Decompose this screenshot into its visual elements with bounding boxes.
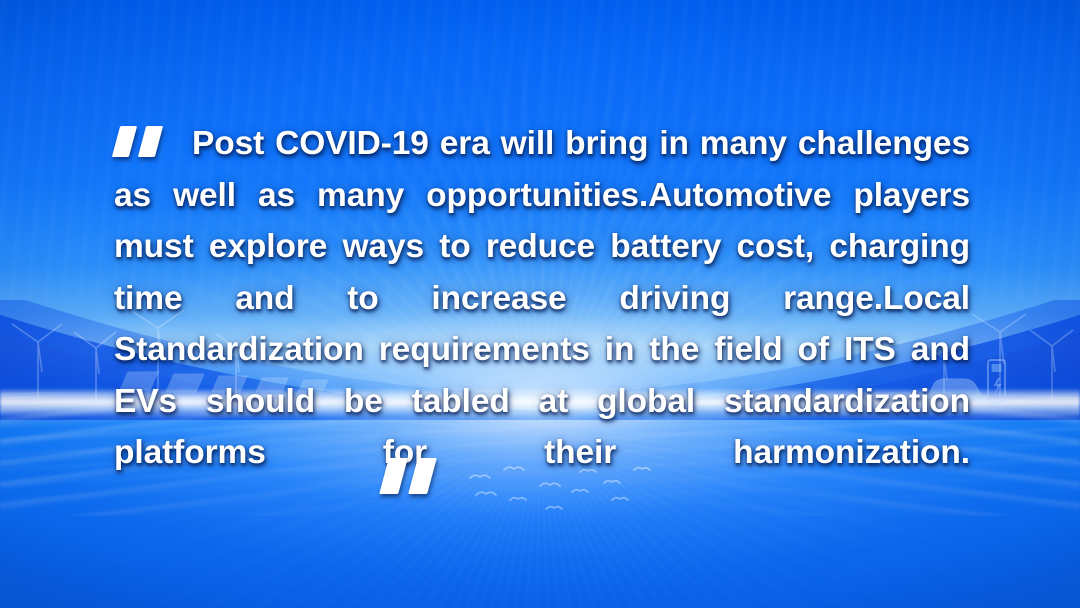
quote-body-text: Post COVID-19 era will bring in many cha… [114,125,970,471]
close-quotation-mark-icon [382,458,444,492]
quote-block: Post COVID-19 era will bring in many cha… [114,118,970,530]
quote-slide: Post COVID-19 era will bring in many cha… [0,0,1080,608]
quote-paragraph: Post COVID-19 era will bring in many cha… [114,118,970,530]
open-quotation-mark-icon [114,126,172,156]
